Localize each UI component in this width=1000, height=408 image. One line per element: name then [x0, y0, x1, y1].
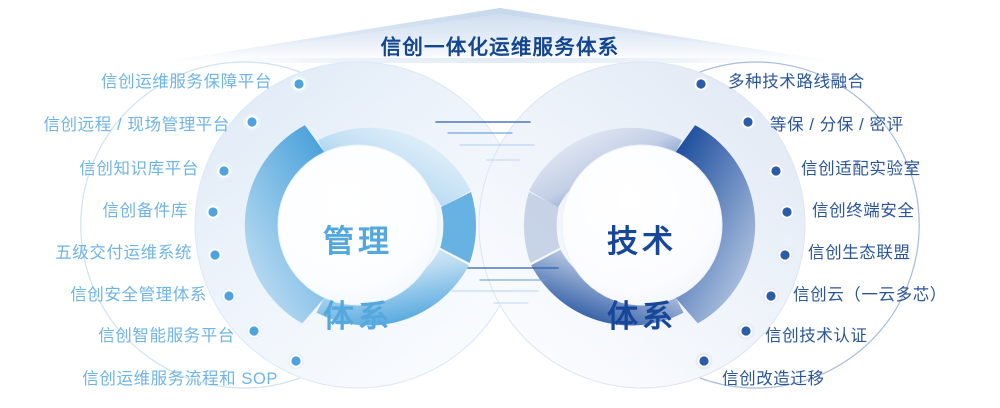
left-ring-center-line2: 体系 [278, 298, 438, 336]
left-label-5[interactable]: 五级交付运维系统 [55, 245, 192, 262]
left-label-7[interactable]: 信创智能服务平台 [98, 328, 235, 345]
left-ring-center-line1: 管理 [278, 223, 438, 261]
right-ring-center-line2: 体系 [562, 298, 722, 336]
infographic-canvas: 信创一体化运维服务体系 信创运维服务保障平台 信创远程 / 现场管理平台 信创知… [0, 0, 1000, 408]
left-dot-2 [244, 114, 261, 131]
right-dot-7 [738, 323, 755, 340]
right-dot-1 [693, 76, 710, 93]
left-dot-6 [221, 288, 238, 305]
left-label-3[interactable]: 信创知识库平台 [79, 161, 199, 178]
left-dot-5 [207, 247, 224, 264]
right-ring-center-label: 技术 体系 [562, 185, 722, 374]
right-label-3[interactable]: 信创适配实验室 [801, 161, 921, 178]
right-dot-4 [779, 204, 796, 221]
left-dot-4 [205, 204, 222, 221]
left-dot-3 [216, 163, 233, 180]
left-label-4[interactable]: 信创备件库 [103, 203, 189, 220]
left-dot-1 [291, 76, 308, 93]
left-label-6[interactable]: 信创安全管理体系 [70, 287, 207, 304]
left-dot-7 [246, 323, 263, 340]
right-dot-2 [740, 114, 757, 131]
right-label-2[interactable]: 等保 / 分保 / 密评 [770, 117, 904, 134]
page-title: 信创一体化运维服务体系 [0, 30, 1000, 60]
right-dot-3 [768, 163, 785, 180]
right-ring-center-line1: 技术 [562, 223, 722, 261]
left-label-8[interactable]: 信创运维服务流程和 SOP [82, 371, 278, 388]
right-label-7[interactable]: 信创技术认证 [765, 328, 868, 345]
right-label-6[interactable]: 信创云（一云多芯） [793, 287, 947, 304]
left-ring-center-label: 管理 体系 [278, 185, 438, 374]
right-label-1[interactable]: 多种技术路线融合 [728, 74, 865, 91]
left-label-1[interactable]: 信创运维服务保障平台 [101, 74, 272, 91]
right-dot-6 [763, 288, 780, 305]
right-label-5[interactable]: 信创生态联盟 [808, 245, 911, 262]
right-dot-5 [777, 247, 794, 264]
right-label-4[interactable]: 信创终端安全 [812, 203, 915, 220]
left-label-2[interactable]: 信创远程 / 现场管理平台 [43, 117, 230, 134]
right-label-8[interactable]: 信创改造迁移 [722, 371, 825, 388]
